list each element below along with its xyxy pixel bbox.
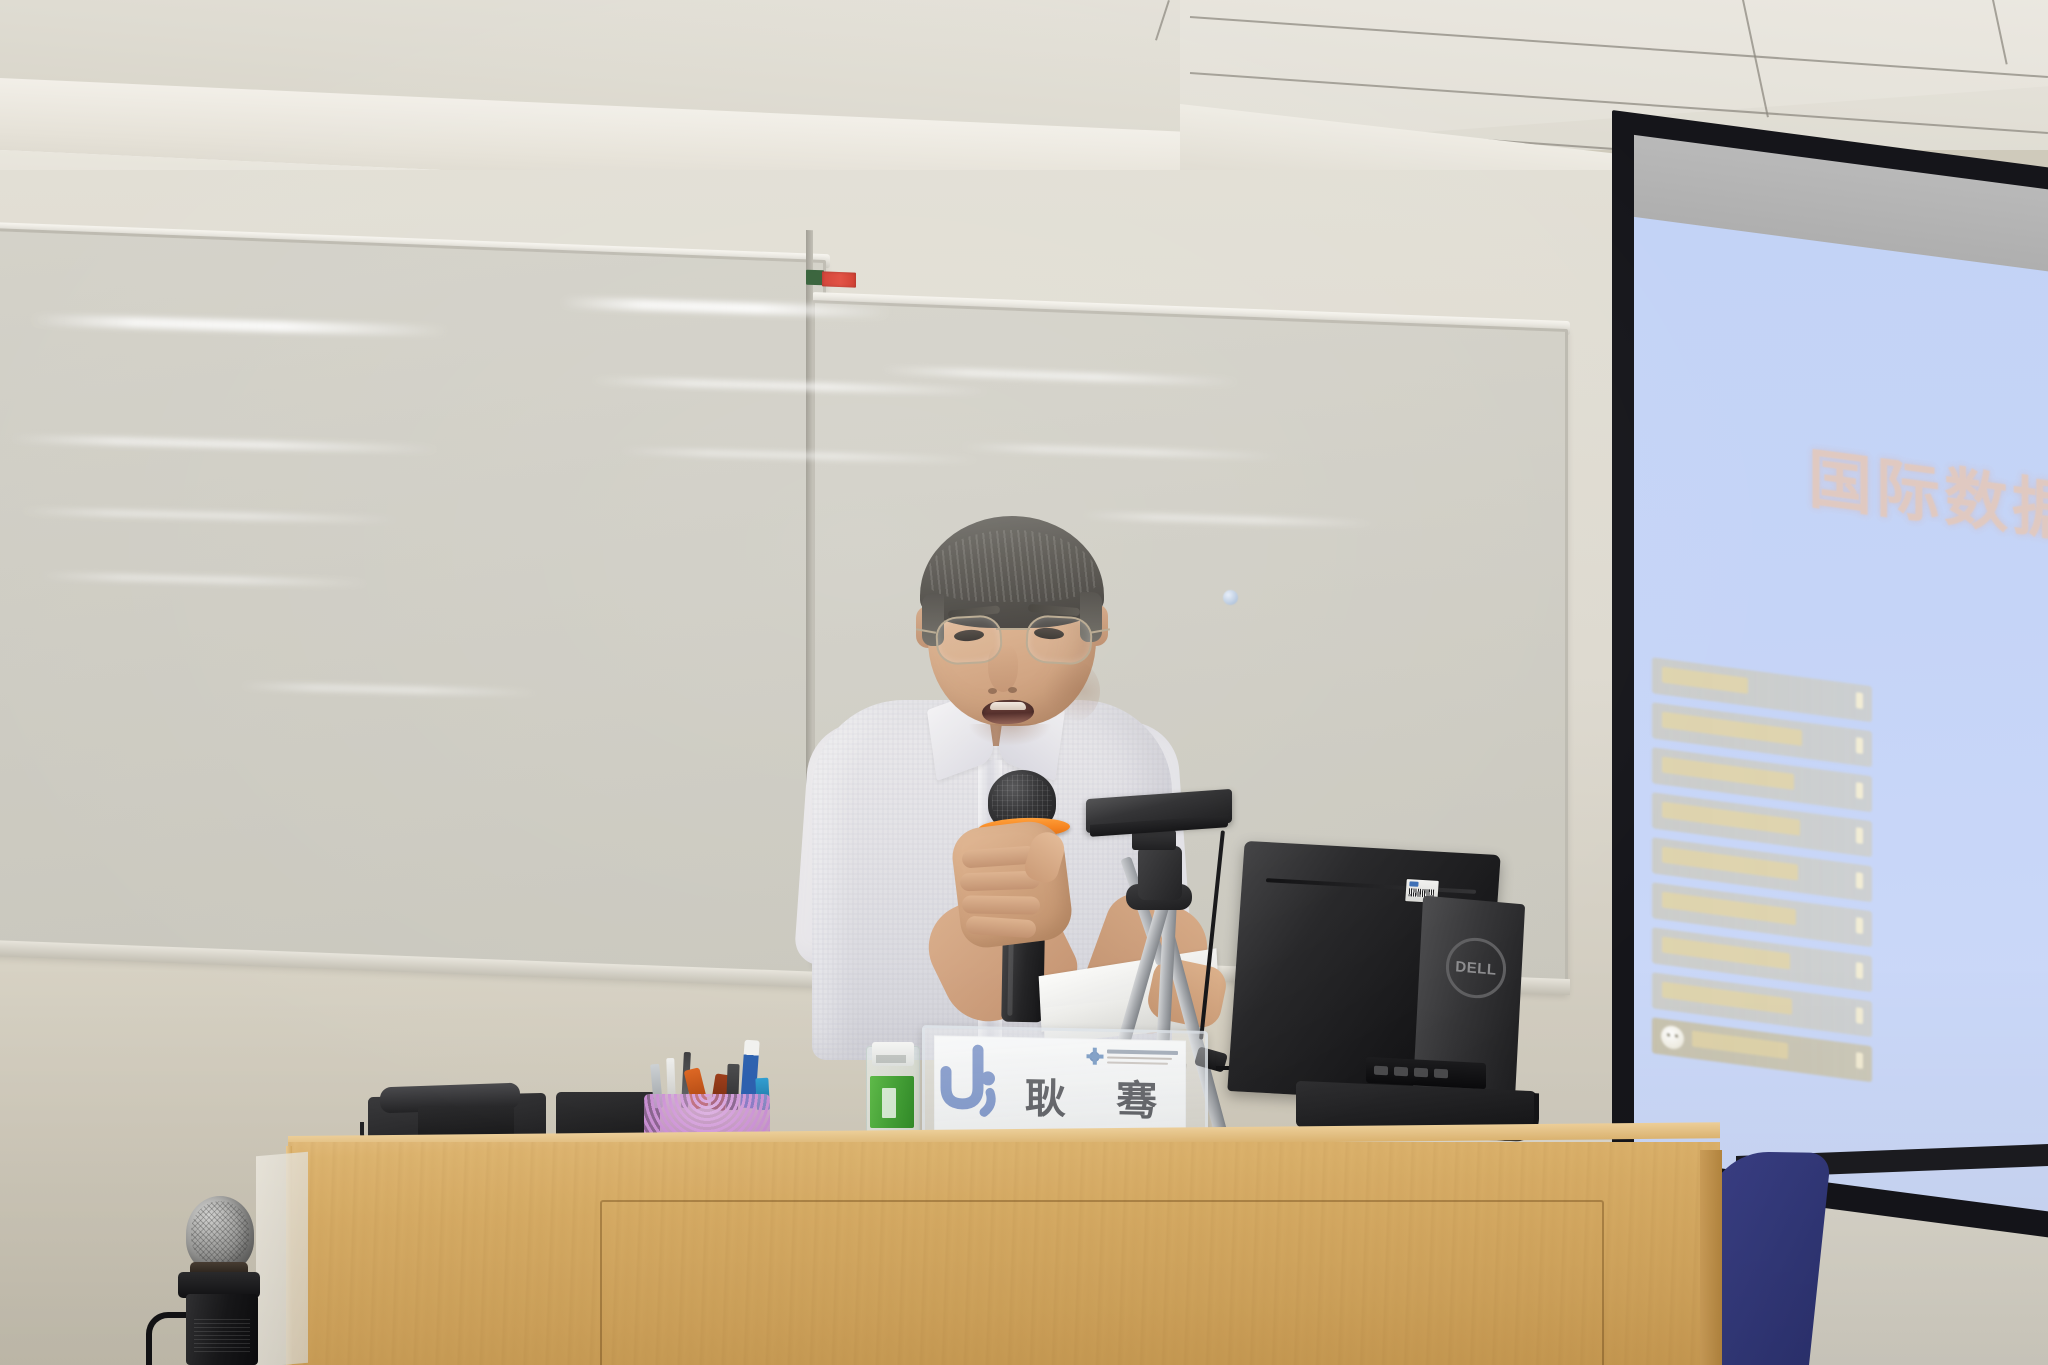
slide-row-value [1856,782,1863,799]
bottle-label [870,1076,914,1128]
slide-row-value [1856,872,1863,889]
whiteboard-sticker-red [822,271,856,287]
slide-row-label [1662,802,1800,836]
monitor-port [1434,1069,1448,1079]
slide-row-value [1856,737,1863,754]
lens-right [1025,614,1093,665]
stand-microphone-body [186,1294,258,1365]
slide-row-label [1662,982,1792,1015]
slide-row-value [1856,917,1863,934]
whiteboard-light-reflection [1223,590,1238,605]
whiteboard-panel-left [0,228,826,988]
wall-side-panel [256,1152,308,1365]
bottle-cap [872,1042,914,1066]
slide-title: 国际数据 [1808,428,2048,556]
slide-row-label [1692,1031,1788,1060]
monitor-port [1374,1066,1388,1076]
finger [962,895,1040,914]
slide-row-label [1662,667,1748,694]
nostril-right [1008,687,1017,693]
slide-row-list [1652,657,1872,1091]
slide-row-value [1856,692,1863,709]
glasses-bridge [996,628,1030,630]
slide-row-label [1662,937,1790,970]
slide-row-label [1662,892,1796,926]
slide-row-label [1662,847,1798,881]
slide-row-value [1856,1007,1863,1024]
nose [988,644,1018,692]
lecture-hall-photo: 国际数据 [0,0,2048,1365]
slide-row-value [1856,962,1863,979]
avatar-icon [1661,1024,1684,1050]
tripod-head [1138,846,1182,900]
slide-row-label [1662,712,1802,746]
monitor-port [1414,1068,1428,1078]
slide-row-label [1662,757,1794,790]
slide-row-value [1856,827,1863,844]
slide-row-value [1856,1052,1863,1069]
projected-slide: 国际数据 [1634,217,2048,1215]
stand-microphone-head [186,1196,254,1272]
teeth [990,702,1026,710]
projection-screen: 国际数据 [1612,110,2048,1252]
monitor-port [1394,1067,1408,1077]
nostril-left [988,688,997,694]
chin-shadow [968,724,1052,746]
podium-right-edge [1700,1150,1722,1365]
podium-recessed-panel [600,1200,1604,1365]
cheek-shadow [1044,660,1100,722]
